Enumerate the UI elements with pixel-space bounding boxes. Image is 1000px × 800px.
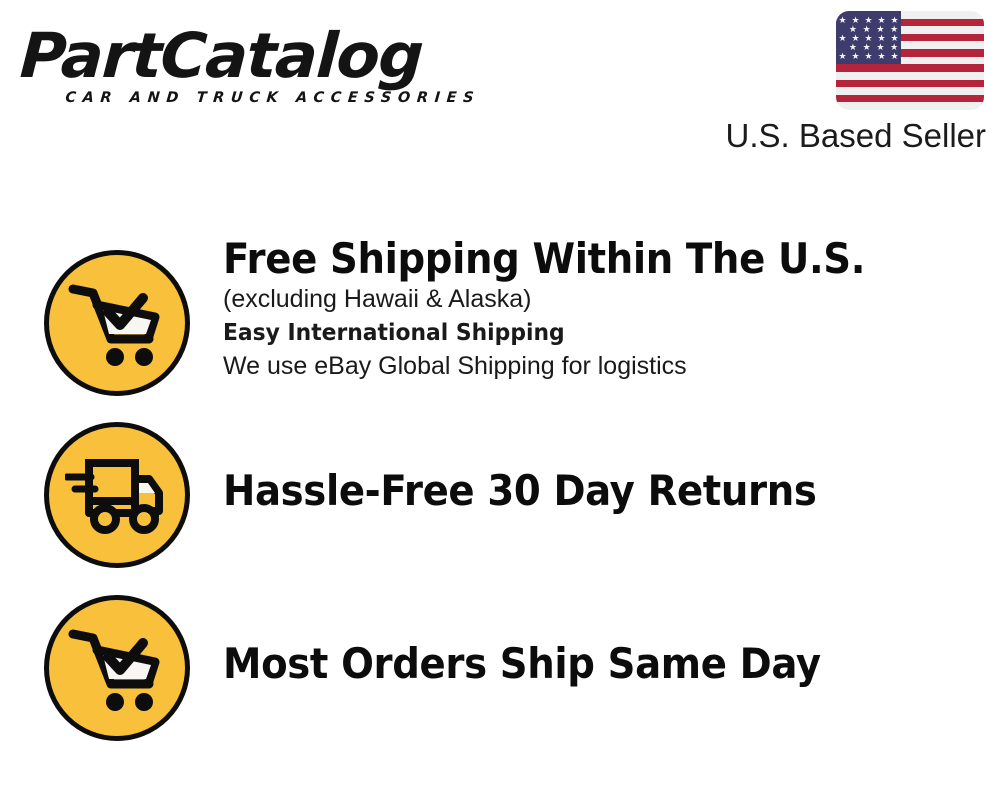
brand-wordmark: PartCatalog [19, 24, 502, 88]
benefit-headline: Hassle-Free 30 Day Returns [223, 466, 922, 515]
benefit-subheading-international: Easy International Shipping [223, 316, 945, 350]
benefit-note: (excluding Hawaii & Alaska) [223, 283, 983, 316]
us-flag-badge: ★★★★★ ★★★★ ★★★★★ ★★★★ ★★★★★ [836, 11, 984, 110]
benefit-text-free-shipping: Free Shipping Within The U.S. (excluding… [223, 234, 983, 383]
benefit-text-returns: Hassle-Free 30 Day Returns [223, 466, 983, 515]
shopping-cart-check-icon [44, 595, 190, 741]
us-based-seller-label: U.S. Based Seller [726, 117, 986, 155]
benefit-text-same-day: Most Orders Ship Same Day [223, 639, 983, 688]
brand-logo[interactable]: PartCatalog CAR AND TRUCK ACCESSORIES [22, 24, 492, 114]
benefit-headline: Free Shipping Within The U.S. [223, 234, 922, 283]
benefit-subtext-logistics: We use eBay Global Shipping for logistic… [223, 350, 983, 383]
us-flag-icon: ★★★★★ ★★★★ ★★★★★ ★★★★ ★★★★★ [836, 11, 984, 110]
benefit-headline: Most Orders Ship Same Day [223, 639, 922, 688]
page-header: PartCatalog CAR AND TRUCK ACCESSORIES ★★… [0, 0, 1000, 175]
delivery-truck-icon [44, 422, 190, 568]
brand-tagline: CAR AND TRUCK ACCESSORIES [65, 90, 481, 106]
shopping-cart-check-icon [44, 250, 190, 396]
